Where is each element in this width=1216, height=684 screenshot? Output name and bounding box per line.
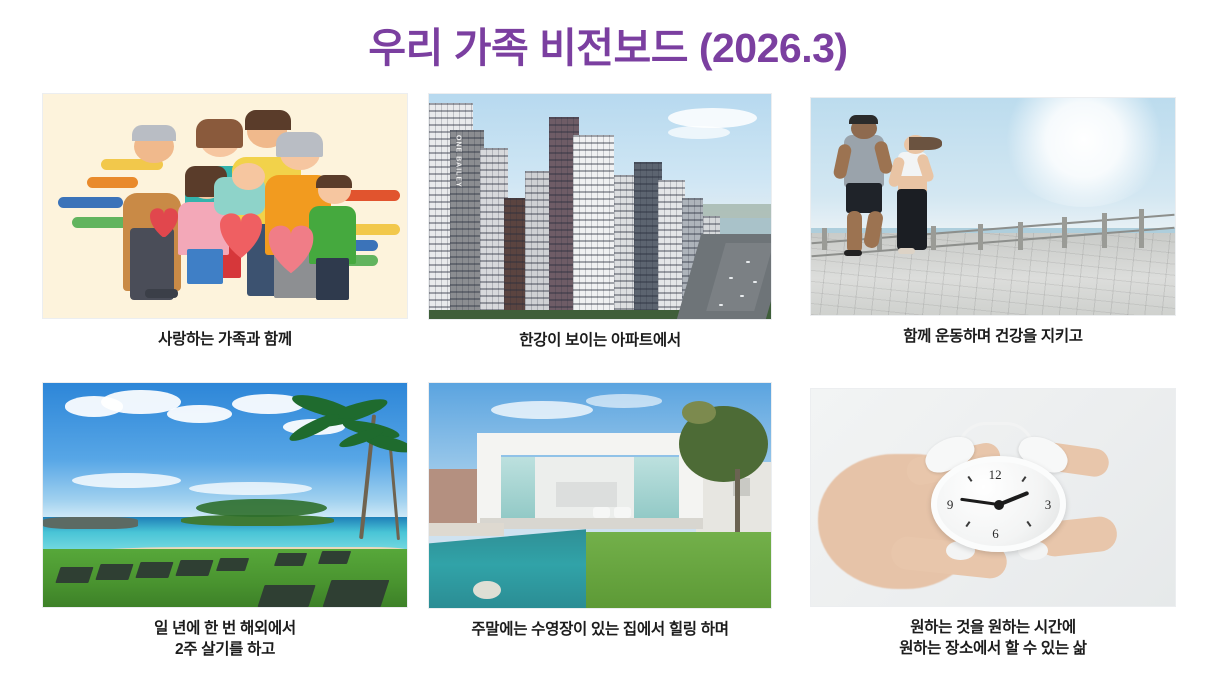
beach-lounger	[95, 564, 133, 580]
rock-jetty	[43, 517, 138, 528]
figure-father-hair	[245, 110, 291, 130]
villa-column	[477, 433, 501, 523]
building-sign-label: ONE BAILEY	[455, 135, 462, 188]
apartment-towers-image[interactable]: ONE BAILEY	[428, 93, 772, 320]
caption-line-2: 2주 살기를 하고	[42, 639, 408, 660]
vision-card-pool-house[interactable]: 주말에는 수영장이 있는 집에서 힐링 하며	[428, 382, 772, 640]
beach-lounger	[135, 562, 173, 578]
cloud	[586, 394, 661, 408]
vision-card-family[interactable]: 사랑하는 가족과 함께	[42, 93, 408, 350]
railing-post	[931, 226, 936, 250]
jogger-male-shoe	[844, 250, 862, 257]
figure-grandfather-hair	[132, 125, 176, 141]
cloud	[72, 473, 181, 489]
clock-tick	[967, 476, 972, 482]
clock-tick	[1026, 521, 1031, 527]
railing-post	[1018, 222, 1023, 250]
villa-glass-panel	[501, 457, 535, 518]
car	[746, 261, 750, 263]
clock-pivot	[994, 500, 1004, 510]
family-illustration-image[interactable]	[42, 93, 408, 319]
pool-villa-image[interactable]	[428, 382, 772, 609]
beach-lounger	[216, 558, 249, 571]
car	[753, 281, 757, 283]
interior-counter	[556, 482, 618, 507]
figure-mother-hair	[196, 119, 243, 148]
railing-post	[1062, 217, 1067, 247]
tropical-beach-image[interactable]	[42, 382, 408, 608]
railing-post	[1139, 209, 1144, 248]
vision-board-grid: 사랑하는 가족과 함께	[0, 93, 1216, 678]
swimmer	[473, 581, 500, 599]
clock-numeral-6: 6	[992, 526, 999, 542]
swimming-pool	[429, 529, 586, 608]
figure-shoe	[145, 289, 178, 298]
tower	[573, 135, 614, 311]
cloud	[491, 401, 594, 419]
villa-roof	[477, 433, 703, 456]
beach-lounger	[55, 567, 93, 583]
clock-tick	[965, 521, 970, 527]
jogger-male-shorts	[846, 183, 882, 213]
caption-line-2: 원하는 장소에서 할 수 있는 삶	[810, 638, 1176, 659]
figure-girl-skirt	[187, 249, 223, 285]
figure-grandmother-hair	[276, 132, 323, 157]
vision-card-exercise[interactable]: 함께 운동하며 건강을 지키고	[810, 93, 1176, 347]
vision-board: 우리 가족 비전보드 (2026.3)	[0, 0, 1216, 684]
card-caption: 사랑하는 가족과 함께	[42, 329, 408, 350]
car	[719, 304, 723, 306]
railing-post	[822, 228, 827, 250]
figure-boy-hair	[316, 175, 352, 188]
cloud	[668, 126, 730, 140]
beach-lounger	[175, 560, 213, 576]
clock-tick	[1021, 476, 1026, 482]
figure-boy-body	[309, 206, 356, 264]
clock-numeral-9: 9	[947, 497, 954, 513]
jogger-female-leggings	[897, 189, 928, 250]
card-caption: 일 년에 한 번 해외에서 2주 살기를 하고	[42, 618, 408, 661]
railing-post	[1102, 213, 1107, 248]
cloud	[167, 405, 233, 423]
lawn	[566, 532, 771, 609]
vision-card-overseas-stay[interactable]: 일 년에 한 번 해외에서 2주 살기를 하고	[42, 382, 408, 661]
caption-line-1: 일 년에 한 번 해외에서	[42, 618, 408, 639]
family-figures	[43, 94, 407, 318]
page-title: 우리 가족 비전보드 (2026.3)	[0, 14, 1216, 74]
card-caption: 한강이 보이는 아파트에서	[428, 330, 772, 351]
beach-lounger	[317, 551, 350, 564]
card-caption: 함께 운동하며 건강을 지키고	[810, 326, 1176, 347]
alarm-clock-in-hand-image[interactable]: 12 3 6 9	[810, 388, 1176, 607]
palm-cluster	[682, 401, 716, 424]
beach-lounger	[274, 553, 307, 566]
villa-terrace	[480, 518, 702, 529]
jogger-male-cap	[849, 115, 878, 124]
jogger-male-leg	[847, 211, 862, 254]
villa-glass-panel	[634, 457, 678, 518]
card-caption: 원하는 것을 원하는 시간에 원하는 장소에서 할 수 있는 삶	[810, 617, 1176, 660]
vision-card-apartment[interactable]: ONE BAILEY 한강이 보이는 아파트에서	[428, 93, 772, 351]
car	[729, 277, 733, 279]
clock-minute-hand	[961, 498, 999, 506]
clock-numeral-12: 12	[989, 467, 1002, 483]
jogger-female-hair	[909, 137, 942, 150]
caption-line-1: 원하는 것을 원하는 시간에	[810, 617, 1176, 638]
cloud	[189, 482, 313, 495]
cloud	[668, 108, 757, 128]
jogging-couple-image[interactable]	[810, 97, 1176, 316]
car	[740, 295, 744, 297]
clock-numeral-3: 3	[1045, 497, 1052, 513]
pool-deck	[429, 523, 504, 537]
card-caption: 주말에는 수영장이 있는 집에서 힐링 하며	[428, 619, 772, 640]
interior-stool	[614, 507, 631, 518]
sun-glow	[1000, 97, 1167, 207]
jogger-female-shoe	[898, 248, 914, 255]
clock-face: 12 3 6 9	[931, 456, 1066, 551]
railing-post	[978, 224, 983, 250]
beach-lounger	[323, 580, 390, 607]
vision-card-time-freedom[interactable]: 12 3 6 9 원하는 것을 원하는 시간에 원하는 장소에서 할 수 있는 …	[810, 382, 1176, 660]
beach-lounger	[258, 585, 316, 607]
figure-boy-legs	[316, 258, 349, 301]
interior-stool	[593, 507, 610, 518]
